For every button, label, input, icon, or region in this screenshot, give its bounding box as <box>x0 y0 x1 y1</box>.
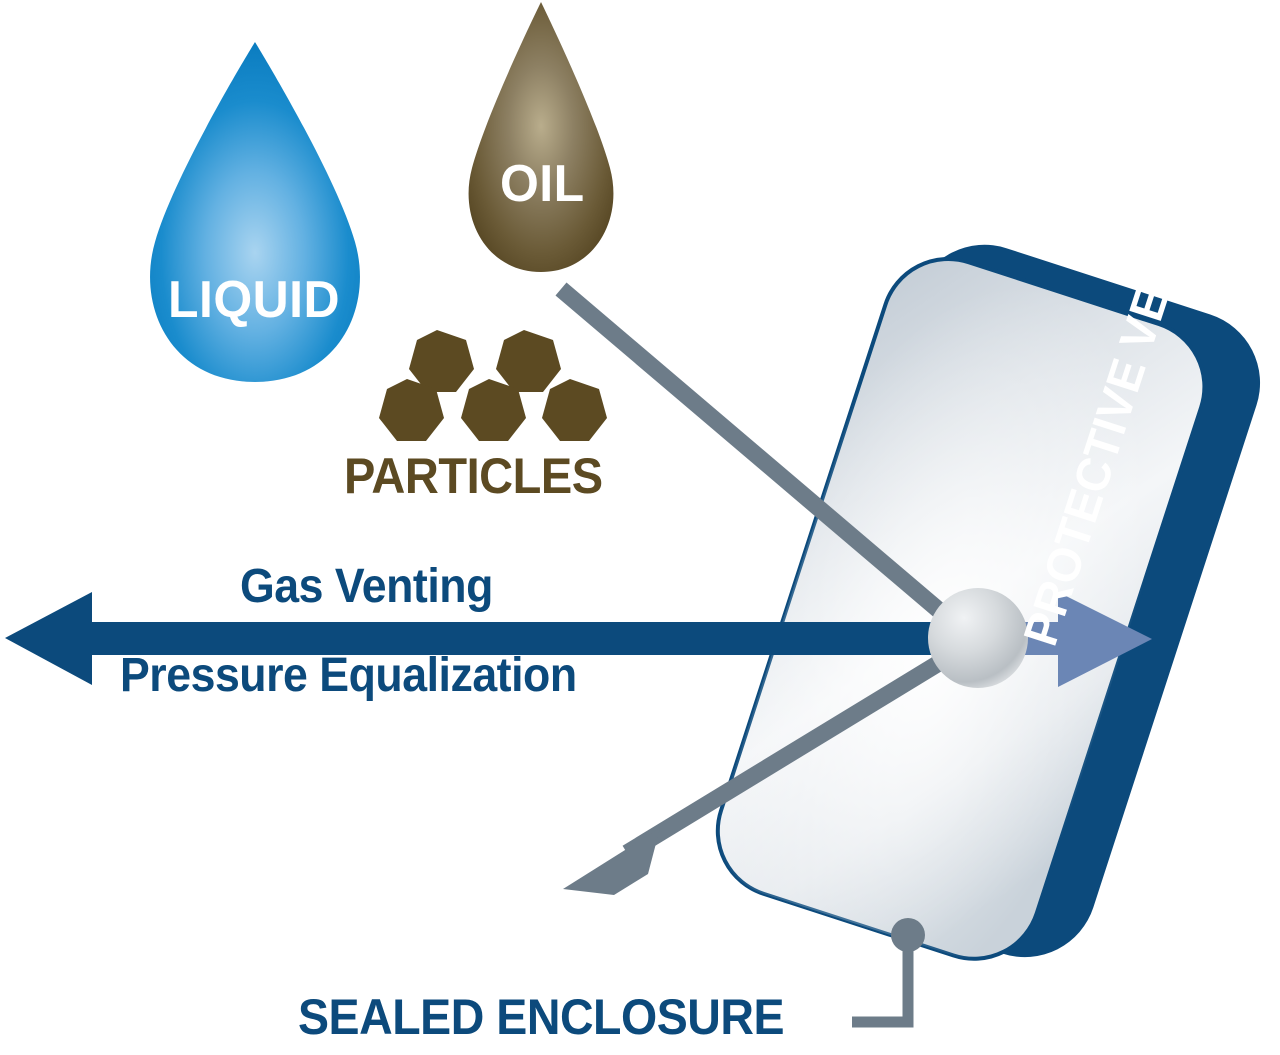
particles-label: PARTICLES <box>344 451 603 501</box>
vent-membrane-sphere <box>928 588 1028 688</box>
particle-hexagon <box>496 330 561 392</box>
particle-hexagon <box>542 379 607 441</box>
leader-line <box>852 945 908 1022</box>
diagram-canvas: LIQUID OIL PARTICLES Gas Venting Pressur… <box>0 0 1280 1055</box>
gas-venting-label: Gas Venting <box>240 563 493 611</box>
deflection-arrowhead <box>563 828 660 895</box>
sealed-enclosure-label: SEALED ENCLOSURE <box>298 992 784 1042</box>
particle-cluster <box>379 330 607 441</box>
liquid-label: LIQUID <box>168 274 340 326</box>
oil-label: OIL <box>500 158 585 210</box>
leader-dot <box>891 918 925 952</box>
pressure-equalization-label: Pressure Equalization <box>120 652 577 700</box>
liquid-droplet <box>150 42 360 382</box>
oil-droplet <box>469 2 614 272</box>
gas-arrow-head-left <box>5 592 92 685</box>
particle-hexagon <box>409 330 474 392</box>
